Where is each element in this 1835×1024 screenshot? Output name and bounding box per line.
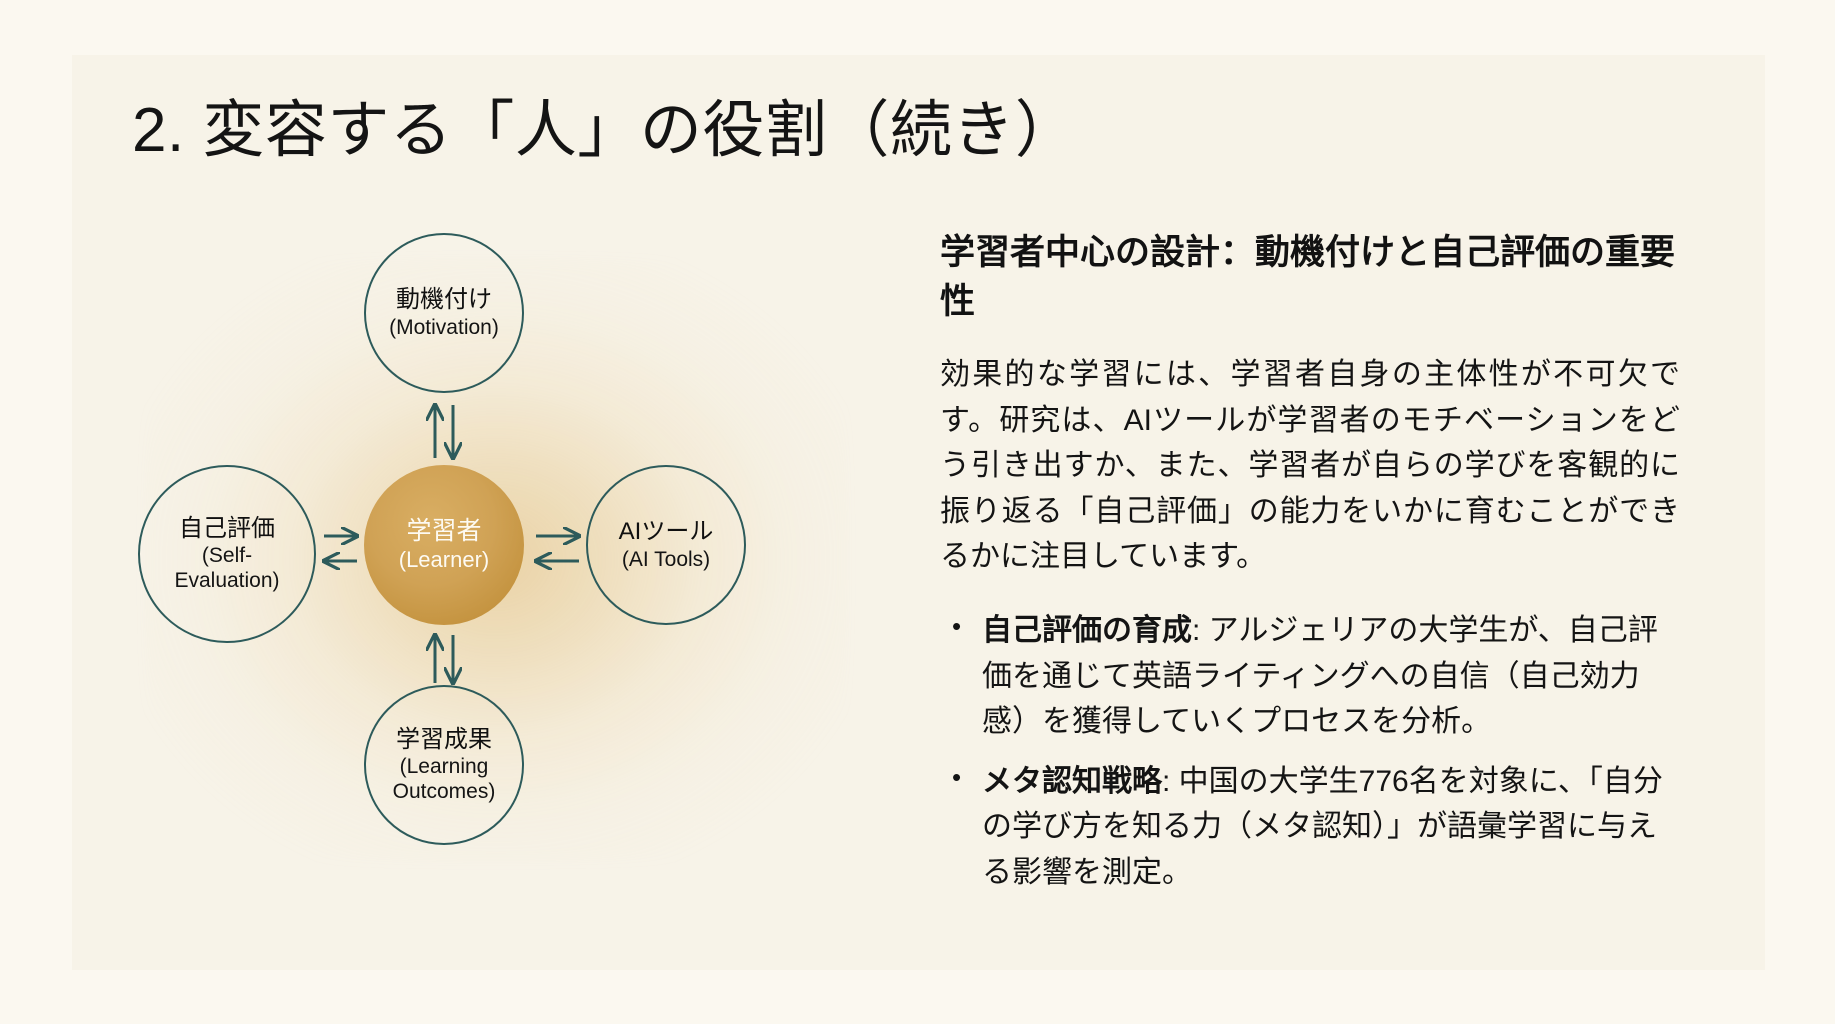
node-label-jp: 学習成果 xyxy=(396,726,492,754)
node-label-jp: 動機付け xyxy=(396,286,492,314)
content-column: 学習者中心の設計：動機付けと自己評価の重要性 効果的な学習には、学習者自身の主体… xyxy=(940,228,1680,910)
diagram-node-learning-outcomes[interactable]: 学習成果 (Learning Outcomes) xyxy=(364,685,524,845)
node-label-en: (AI Tools) xyxy=(622,547,710,572)
content-bullet-list: 自己評価の育成: アルジェリアの大学生が、自己評価を通じて英語ライティングへの自… xyxy=(940,608,1680,896)
bullet-lead: メタ認知戦略 xyxy=(982,765,1162,798)
node-label-en: (Learner) xyxy=(399,547,489,573)
list-item: 自己評価の育成: アルジェリアの大学生が、自己評価を通じて英語ライティングへの自… xyxy=(978,608,1680,745)
connector-center-learning-outcomes xyxy=(435,635,453,683)
node-label-jp: AIツール xyxy=(619,518,714,546)
connector-center-ai-tools xyxy=(536,536,579,561)
diagram-node-self-evaluation[interactable]: 自己評価 (Self- Evaluation) xyxy=(138,465,316,643)
node-label-en-2: Evaluation) xyxy=(174,568,279,593)
node-label-en: (Learning xyxy=(400,754,489,779)
node-label-jp: 自己評価 xyxy=(179,515,275,543)
diagram-node-motivation[interactable]: 動機付け (Motivation) xyxy=(364,233,524,393)
list-item: メタ認知戦略: 中国の大学生776名を対象に、「自分の学び方を知る力（メタ認知）… xyxy=(978,759,1680,896)
content-heading: 学習者中心の設計：動機付けと自己評価の重要性 xyxy=(940,228,1680,326)
slide-root: 2. 変容する「人」の役割（続き） xyxy=(0,0,1835,1024)
diagram-node-learner[interactable]: 学習者 (Learner) xyxy=(364,465,524,625)
node-label-en: (Self- xyxy=(202,543,252,568)
connector-self-evaluation-center xyxy=(324,536,357,561)
node-label-en: (Motivation) xyxy=(389,315,499,340)
diagram-node-ai-tools[interactable]: AIツール (AI Tools) xyxy=(586,465,746,625)
node-label-en-2: Outcomes) xyxy=(393,779,496,804)
page-title: 2. 変容する「人」の役割（続き） xyxy=(132,96,1077,165)
node-label-jp: 学習者 xyxy=(406,517,481,547)
learner-cycle-diagram: 動機付け (Motivation) 自己評価 (Self- Evaluation… xyxy=(96,215,896,905)
bullet-lead: 自己評価の育成 xyxy=(982,614,1192,647)
content-paragraph: 効果的な学習には、学習者自身の主体性が不可欠です。研究は、AIツールが学習者のモ… xyxy=(940,352,1680,580)
connector-center-motivation xyxy=(435,405,453,458)
